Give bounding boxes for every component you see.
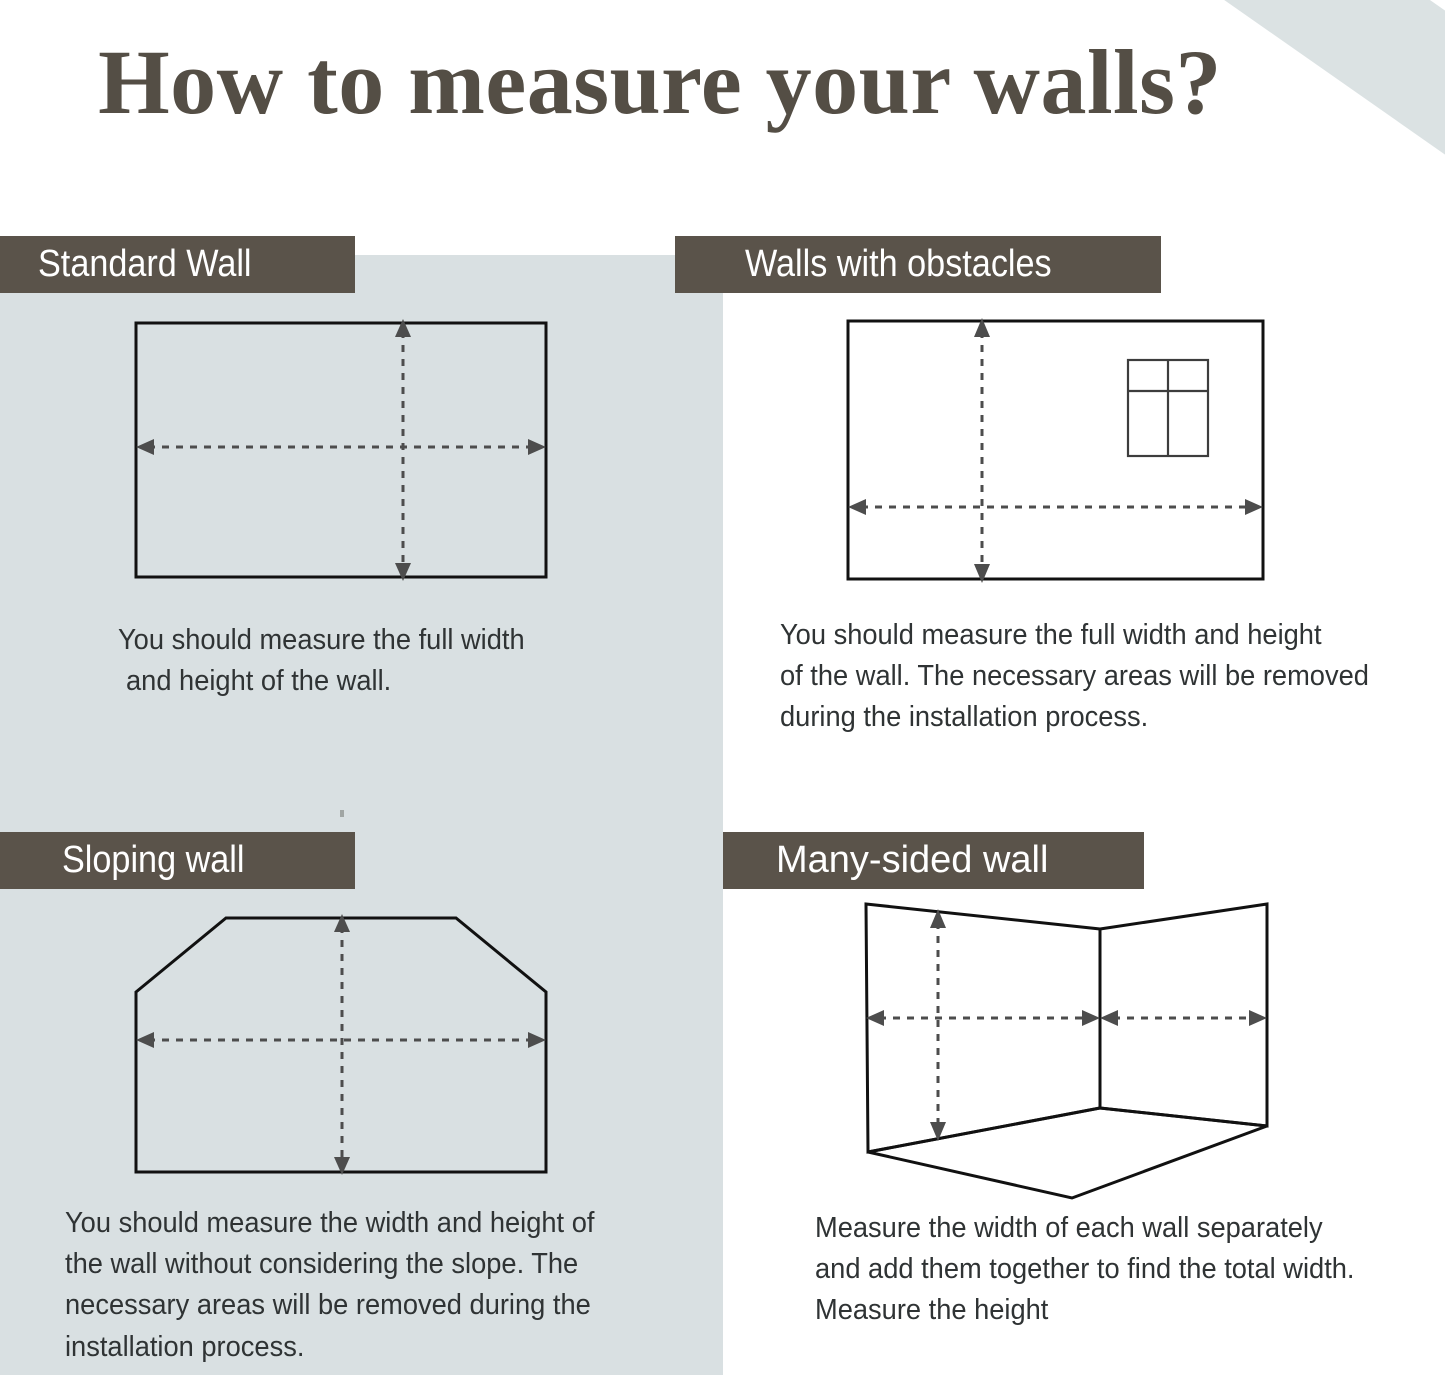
width-dimension-arrow-icon (136, 439, 546, 455)
caption-standard-wall-line-1: You should measure the full width (118, 620, 616, 661)
section-heading-many-sided-wall-label: Many-sided wall (776, 839, 1048, 882)
right-wall-face (1100, 904, 1267, 1126)
caption-many-sided-wall-line-2: and add them together to find the total … (815, 1249, 1398, 1290)
section-heading-sloping-wall: Sloping wall (0, 832, 355, 889)
diagram-many-sided-wall (845, 890, 1305, 1220)
section-heading-walls-with-obstacles: Walls with obstacles (675, 236, 1161, 293)
caption-walls-with-obstacles: You should measure the full width and he… (780, 615, 1420, 739)
height-dimension-arrow-icon (395, 319, 411, 581)
section-heading-standard-wall-label: Standard Wall (38, 243, 252, 286)
caption-many-sided-wall-line-3: Measure the height (815, 1290, 1398, 1331)
caption-standard-wall: You should measure the full width and he… (118, 620, 648, 702)
caption-standard-wall-line-2: and height of the wall. (126, 661, 617, 702)
caption-many-sided-wall-line-1: Measure the width of each wall separatel… (815, 1208, 1398, 1249)
width-dimension-arrow-icon (848, 499, 1263, 515)
section-heading-many-sided-wall: Many-sided wall (723, 832, 1144, 889)
caption-sloping-wall-line-4: installation process. (65, 1327, 638, 1368)
height-dimension-arrow-icon (334, 914, 350, 1175)
caption-walls-with-obstacles-line-1: You should measure the full width and he… (780, 615, 1382, 656)
stray-mark (340, 810, 344, 817)
wall-rectangle (136, 323, 546, 577)
height-dimension-arrow-icon (930, 909, 946, 1141)
section-heading-standard-wall: Standard Wall (0, 236, 355, 293)
caption-walls-with-obstacles-line-3: during the installation process. (780, 697, 1382, 738)
page-title: How to measure your walls? (0, 34, 1320, 131)
diagram-standard-wall (120, 305, 570, 600)
caption-sloping-wall-line-2: the wall without considering the slope. … (65, 1244, 638, 1285)
caption-sloping-wall: You should measure the width and height … (65, 1203, 675, 1368)
left-wall-width-dimension-arrow-icon (866, 1010, 1100, 1026)
section-heading-walls-with-obstacles-label: Walls with obstacles (745, 243, 1052, 286)
floor-face (868, 1108, 1267, 1198)
caption-sloping-wall-line-3: necessary areas will be removed during t… (65, 1285, 638, 1326)
caption-walls-with-obstacles-line-2: of the wall. The necessary areas will be… (780, 656, 1382, 697)
height-dimension-arrow-icon (974, 318, 990, 583)
caption-many-sided-wall: Measure the width of each wall separatel… (815, 1208, 1435, 1332)
window-obstacle-icon (1128, 360, 1208, 456)
diagram-sloping-wall (120, 900, 570, 1195)
diagram-walls-with-obstacles (835, 305, 1285, 600)
section-heading-sloping-wall-label: Sloping wall (62, 839, 245, 882)
caption-sloping-wall-line-1: You should measure the width and height … (65, 1203, 638, 1244)
right-wall-width-dimension-arrow-icon (1100, 1010, 1267, 1026)
